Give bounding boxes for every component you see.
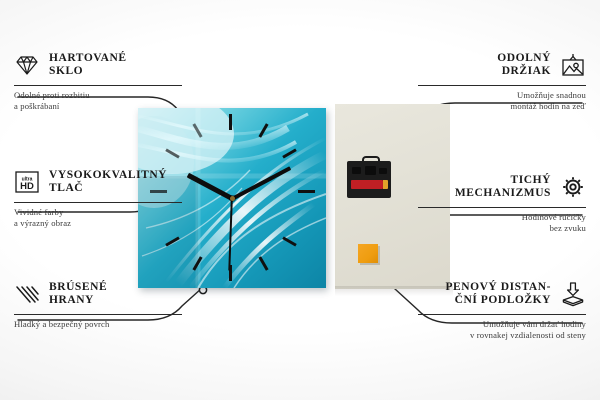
feature-title: BRÚSENÉ HRANY [49, 281, 107, 306]
feature-odolny-drziak: ODOLNÝ DRŽIAK Umožňuje snadnou montáž ho… [418, 48, 586, 112]
mechanism-battery-terminal [383, 180, 388, 189]
feature-hartovane-sklo: HARTOVANÉ SKLO Odolné proti rozbitiu a p… [14, 48, 182, 112]
feature-title: PENOVÝ DISTAN- ČNÍ PODLOŽKY [445, 281, 551, 306]
feature-header: HARTOVANÉ SKLO [14, 48, 182, 82]
foam-spacer-pad [358, 244, 378, 263]
mechanism-battery [351, 180, 383, 189]
clock-center-hub [230, 196, 235, 201]
clock-tick [298, 190, 315, 193]
feature-tichy-mechanizmus: TICHÝ MECHANIZMUS Hodinové ručičky bez z… [418, 170, 586, 234]
feature-divider [418, 207, 586, 208]
gear-icon [560, 174, 586, 200]
clock-mechanism [347, 156, 391, 198]
feature-title: VYSOKOKVALITNÝ TLAČ [49, 169, 167, 194]
mechanism-port [379, 168, 387, 174]
diamond-icon [14, 52, 40, 78]
ultra-hd-badge-icon: ultra HD [14, 169, 40, 195]
feature-header: ultra HD VYSOKOKVALITNÝ TLAČ [14, 165, 182, 199]
feature-divider [418, 85, 586, 86]
feature-title: ODOLNÝ DRŽIAK [497, 52, 551, 77]
feature-header: ODOLNÝ DRŽIAK [418, 48, 586, 82]
infographic-canvas: HARTOVANÉ SKLO Odolné proti rozbitiu a p… [0, 0, 600, 400]
feature-brusene-hrany: BRÚSENÉ HRANY Hladký a bezpečný povrch [14, 277, 182, 330]
feature-title: TICHÝ MECHANIZMUS [455, 174, 551, 199]
mechanism-port [352, 167, 361, 174]
feature-header: TICHÝ MECHANIZMUS [418, 170, 586, 204]
feature-header: PENOVÝ DISTAN- ČNÍ PODLOŽKY [418, 277, 586, 311]
foam-spacer-icon [560, 281, 586, 307]
feature-vysokokvalitny-tlac: ultra HD VYSOKOKVALITNÝ TLAČ Vividné far… [14, 165, 182, 229]
feature-divider [14, 202, 182, 203]
feature-divider [418, 314, 586, 315]
clock-tick [229, 114, 232, 130]
svg-text:HD: HD [20, 181, 34, 192]
feature-divider [14, 85, 182, 86]
feature-penove-distancne-podlozky: PENOVÝ DISTAN- ČNÍ PODLOŽKY Umožňuje vám… [418, 277, 586, 341]
feature-header: BRÚSENÉ HRANY [14, 277, 182, 311]
wall-hanger-frame-icon [560, 52, 586, 78]
feature-divider [14, 314, 182, 315]
beveled-edges-icon [14, 281, 40, 307]
mechanism-port [365, 166, 376, 175]
feature-title: HARTOVANÉ SKLO [49, 52, 127, 77]
